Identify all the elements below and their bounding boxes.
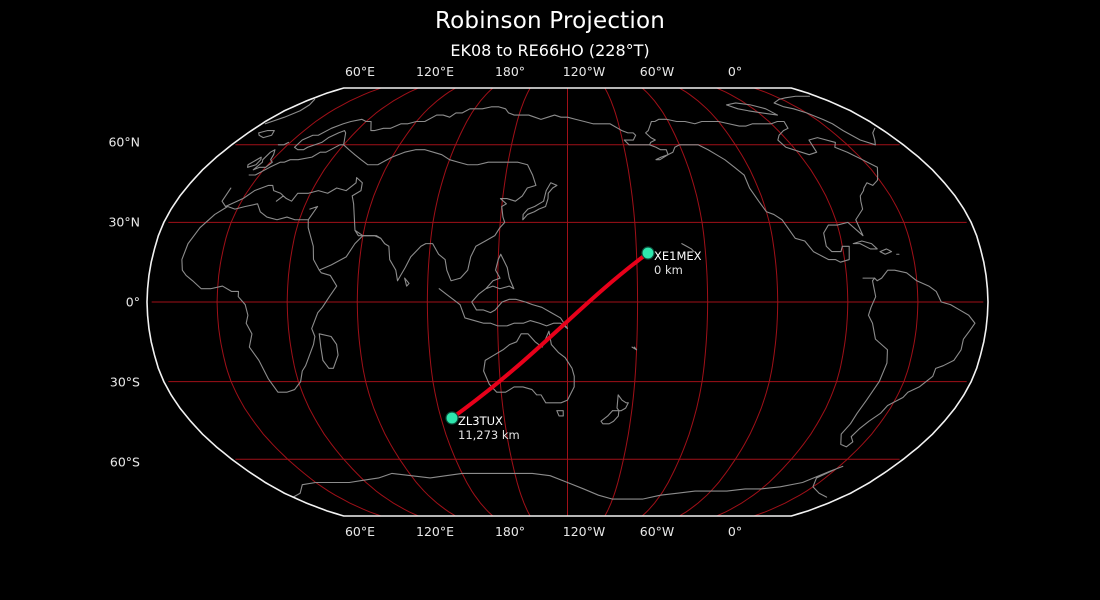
left-axis-tick-3: 30°S xyxy=(110,375,140,390)
station-callsign-label: XE1MEX xyxy=(654,249,702,263)
top-axis-tick-0: 60°E xyxy=(345,64,375,79)
left-axis-tick-0: 60°N xyxy=(108,135,140,150)
left-axis-tick-4: 60°S xyxy=(110,455,140,470)
left-axis-tick-2: 0° xyxy=(126,295,140,310)
top-axis-tick-5: 0° xyxy=(728,64,742,79)
map-figure: Robinson Projection EK08 to RE66HO (228°… xyxy=(0,0,1100,600)
top-axis-tick-4: 60°W xyxy=(640,64,675,79)
station-callsign-label: ZL3TUX xyxy=(458,414,503,428)
left-axis-tick-1: 30°N xyxy=(108,215,140,230)
coastlines-group xyxy=(182,96,975,499)
bottom-axis-tick-2: 180° xyxy=(495,524,525,539)
top-axis-tick-3: 120°W xyxy=(563,64,605,79)
bottom-axis-tick-0: 60°E xyxy=(345,524,375,539)
great-circle-path xyxy=(452,253,648,418)
station-distance-label: 0 km xyxy=(654,263,683,277)
bottom-axis-tick-5: 0° xyxy=(728,524,742,539)
graticule-group xyxy=(152,88,984,516)
station-distance-label: 11,273 km xyxy=(458,428,520,442)
bottom-axis-tick-1: 120°E xyxy=(416,524,454,539)
bottom-axis-tick-3: 120°W xyxy=(563,524,605,539)
bottom-axis-tick-4: 60°W xyxy=(640,524,675,539)
robinson-map-canvas xyxy=(0,0,1100,600)
top-axis-tick-2: 180° xyxy=(495,64,525,79)
top-axis-tick-1: 120°E xyxy=(416,64,454,79)
